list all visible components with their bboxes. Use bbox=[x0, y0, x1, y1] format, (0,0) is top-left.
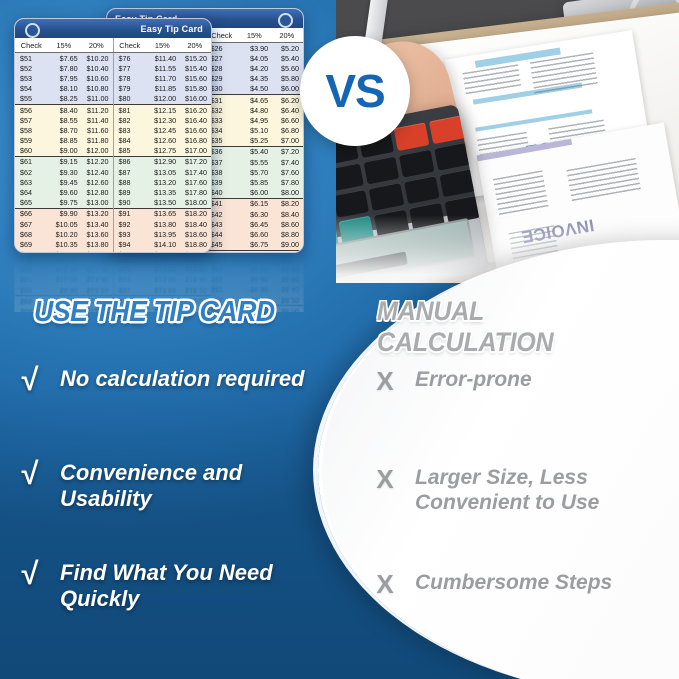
table-cell: $10.20 bbox=[82, 53, 113, 63]
table-cell: $5.40 bbox=[241, 147, 272, 157]
table-cell: $11.20 bbox=[82, 105, 113, 115]
table-cell: $85 bbox=[114, 146, 150, 156]
table-cell: $5.25 bbox=[241, 136, 272, 146]
table-row: $28$4.20$5.60 bbox=[206, 63, 304, 73]
table-cell: $6.60 bbox=[272, 115, 303, 125]
table-cell: $6.75 bbox=[241, 240, 272, 250]
table-cell: $12.60 bbox=[149, 136, 180, 146]
table-row: $34$5.10$6.80 bbox=[206, 126, 304, 136]
versus-label: VS bbox=[325, 64, 384, 118]
table-row: $38$5.70$7.60 bbox=[206, 167, 304, 177]
table-cell: $8.40 bbox=[51, 105, 82, 115]
table-band: $66$9.90$13.20$67$10.05$13.40$68$10.20$1… bbox=[15, 209, 113, 253]
table-cell: $14.10 bbox=[149, 239, 180, 249]
table-cell: $11.40 bbox=[82, 115, 113, 125]
table-cell: $10.05 bbox=[51, 219, 82, 229]
table-cell: $12.00 bbox=[82, 146, 113, 156]
table-cell: $66 bbox=[15, 209, 51, 219]
table-row: $93$13.95$18.60 bbox=[114, 229, 212, 239]
table-cell: $95 bbox=[114, 250, 150, 253]
table-cell: $11.40 bbox=[149, 53, 180, 63]
table-row: $58$8.70$11.60 bbox=[15, 125, 113, 135]
table-cell: $59 bbox=[15, 136, 51, 146]
table-cell: $4.95 bbox=[241, 115, 272, 125]
table-cell: $12.45 bbox=[149, 125, 180, 135]
table-cell: $18.20 bbox=[180, 209, 211, 219]
table-cell: $8.10 bbox=[51, 84, 82, 94]
table-row: $82$12.30$16.40 bbox=[114, 115, 212, 125]
tip-card-front: Easy Tip CardCheck15%20%Check15%20%$51$7… bbox=[14, 18, 212, 253]
table-row: $66$9.90$13.20 bbox=[15, 209, 113, 219]
table-cell: $78 bbox=[114, 73, 150, 83]
table-cell: $9.00 bbox=[272, 240, 303, 250]
table-row: $90$13.50$18.00 bbox=[114, 198, 212, 208]
table-cell: $5.20 bbox=[272, 43, 303, 53]
tip-card-group: Easy Tip CardCheck15%20%Check15%20%$1$0.… bbox=[14, 4, 304, 254]
con-column: MANUAL CALCULATION X Error-prone X Large… bbox=[355, 288, 675, 678]
column-header: Check bbox=[15, 38, 48, 52]
pro-item-3: √ Find What You Need Quickly bbox=[16, 560, 316, 612]
table-cell: $6.60 bbox=[241, 229, 272, 239]
table-cell: $80 bbox=[114, 94, 150, 104]
table-cell: $54 bbox=[15, 84, 51, 94]
table-row: $51$7.65$10.20 bbox=[15, 53, 113, 63]
table-row: $87$13.05$17.40 bbox=[114, 167, 212, 177]
table-cell: $77 bbox=[114, 63, 150, 73]
table-cell: $4.05 bbox=[241, 53, 272, 63]
table-cell: $56 bbox=[15, 105, 51, 115]
table-row: $68$10.20$13.60 bbox=[15, 229, 113, 239]
table-row: $61$9.15$12.20 bbox=[15, 157, 113, 167]
table-row: $65$9.75$13.00 bbox=[15, 198, 113, 208]
con-item-2-label: Larger Size, Less Convenient to Use bbox=[415, 466, 679, 516]
table-band: $51$7.65$10.20$52$7.80$10.40$53$7.95$10.… bbox=[15, 53, 113, 105]
pro-item-2-label: Convenience and Usability bbox=[60, 460, 316, 512]
table-cell: $6.15 bbox=[241, 199, 272, 209]
table-cell: $12.40 bbox=[82, 167, 113, 177]
table-row: $69$10.35$13.80 bbox=[15, 239, 113, 249]
table-cell: $60 bbox=[15, 146, 51, 156]
table-cell: $8.80 bbox=[272, 229, 303, 239]
table-row: $57$8.55$11.40 bbox=[15, 115, 113, 125]
table-cell: $5.55 bbox=[241, 157, 272, 167]
table-row: $32$4.80$6.40 bbox=[206, 105, 304, 115]
table-cell: $5.70 bbox=[241, 167, 272, 177]
table-cell: $82 bbox=[114, 115, 150, 125]
table-row: $84$12.60$16.80 bbox=[114, 136, 212, 146]
tip-card-table: $51$7.65$10.20$52$7.80$10.40$53$7.95$10.… bbox=[15, 53, 211, 253]
table-cell: $93 bbox=[114, 229, 150, 239]
table-cell: $69 bbox=[15, 239, 51, 249]
table-cell: $17.40 bbox=[180, 167, 211, 177]
pro-item-1-label: No calculation required bbox=[60, 366, 305, 392]
table-cell: $6.30 bbox=[241, 209, 272, 219]
table-cell: $9.00 bbox=[51, 146, 82, 156]
column-header: 20% bbox=[271, 28, 304, 42]
table-cell: $13.95 bbox=[149, 229, 180, 239]
table-cell: $13.20 bbox=[149, 177, 180, 187]
table-row: $77$11.55$15.40 bbox=[114, 63, 212, 73]
table-cell: $7.65 bbox=[51, 53, 82, 63]
table-row: $30$4.50$6.00 bbox=[206, 84, 304, 94]
table-cell: $9.60 bbox=[51, 187, 82, 197]
table-cell: $17.00 bbox=[180, 146, 211, 156]
table-cell: $14.00 bbox=[82, 250, 113, 253]
con-item-3: X Cumbersome Steps bbox=[375, 571, 679, 597]
table-cell: $8.60 bbox=[272, 219, 303, 229]
table-cell: $9.45 bbox=[51, 177, 82, 187]
table-row: $55$8.25$11.00 bbox=[15, 94, 113, 104]
table-cell: $16.80 bbox=[180, 136, 211, 146]
table-row: $42$6.30$8.40 bbox=[206, 209, 304, 219]
table-cell: $10.50 bbox=[51, 250, 82, 253]
table-row: $52$7.80$10.40 bbox=[15, 63, 113, 73]
table-row: $88$13.20$17.60 bbox=[114, 177, 212, 187]
table-row: $70$10.50$14.00 bbox=[15, 250, 113, 253]
column-header: 15% bbox=[238, 28, 271, 42]
check-icon: √ bbox=[16, 366, 44, 394]
table-cell: $7.40 bbox=[272, 157, 303, 167]
table-row: $41$6.15$8.20 bbox=[206, 199, 304, 209]
table-cell: $5.80 bbox=[272, 74, 303, 84]
table-cell: $9.90 bbox=[51, 209, 82, 219]
table-cell: $5.60 bbox=[272, 63, 303, 73]
table-cell: $16.20 bbox=[180, 105, 211, 115]
table-band: $41$6.15$8.20$42$6.30$8.40$43$6.45$8.60$… bbox=[206, 199, 304, 251]
table-cell: $5.40 bbox=[272, 53, 303, 63]
table-cell: $8.00 bbox=[272, 188, 303, 198]
table-cell: $4.80 bbox=[241, 105, 272, 115]
table-cell: $89 bbox=[114, 187, 150, 197]
table-row: $78$11.70$15.60 bbox=[114, 73, 212, 83]
table-cell: $70 bbox=[15, 250, 51, 253]
table-row: $35$5.25$7.00 bbox=[206, 136, 304, 146]
table-row: $56$8.40$11.20 bbox=[15, 105, 113, 115]
invoice-label-2: INVOICE bbox=[520, 214, 596, 246]
table-cell: $8.55 bbox=[51, 115, 82, 125]
table-cell: $6.80 bbox=[272, 126, 303, 136]
table-band: $61$9.15$12.20$62$9.30$12.40$63$9.45$12.… bbox=[15, 157, 113, 209]
table-row: $92$13.80$18.40 bbox=[114, 219, 212, 229]
table-cell: $18.40 bbox=[180, 219, 211, 229]
column-header: 20% bbox=[179, 38, 212, 52]
table-band: $91$13.65$18.20$92$13.80$18.40$93$13.95$… bbox=[114, 209, 212, 253]
table-band: $86$12.90$17.20$87$13.05$17.40$88$13.20$… bbox=[114, 157, 212, 209]
table-cell: $52 bbox=[15, 63, 51, 73]
table-cell: $16.60 bbox=[180, 125, 211, 135]
table-cell: $12.30 bbox=[149, 115, 180, 125]
table-cell: $63 bbox=[15, 177, 51, 187]
table-cell: $7.60 bbox=[272, 167, 303, 177]
table-row: $81$12.15$16.20 bbox=[114, 105, 212, 115]
table-cell: $61 bbox=[15, 157, 51, 167]
table-cell: $11.70 bbox=[149, 73, 180, 83]
pro-item-3-label: Find What You Need Quickly bbox=[60, 560, 316, 612]
table-cell: $57 bbox=[15, 115, 51, 125]
table-row: $95$14.25$19.00 bbox=[114, 250, 212, 253]
table-cell: $18.60 bbox=[180, 229, 211, 239]
table-cell: $12.15 bbox=[149, 105, 180, 115]
table-band: $36$5.40$7.20$37$5.55$7.40$38$5.70$7.60$… bbox=[206, 147, 304, 199]
table-row: $53$7.95$10.60 bbox=[15, 73, 113, 83]
table-cell: $10.20 bbox=[51, 229, 82, 239]
tip-card-title: Easy Tip Card bbox=[141, 24, 203, 34]
table-cell: $91 bbox=[114, 209, 150, 219]
table-row: $46$6.90$9.20 bbox=[206, 251, 304, 253]
pro-item-2: √ Convenience and Usability bbox=[16, 460, 316, 512]
table-band: $81$12.15$16.20$82$12.30$16.40$83$12.45$… bbox=[114, 105, 212, 157]
pro-title: USE THE TIP CARD bbox=[34, 296, 275, 329]
table-cell: $10.60 bbox=[82, 73, 113, 83]
table-cell: $84 bbox=[114, 136, 150, 146]
table-row: $36$5.40$7.20 bbox=[206, 147, 304, 157]
cross-icon: X bbox=[375, 466, 395, 492]
table-row: $43$6.45$8.60 bbox=[206, 219, 304, 229]
con-item-2: X Larger Size, Less Convenient to Use bbox=[375, 466, 679, 516]
table-cell: $11.00 bbox=[82, 94, 113, 104]
table-row: $83$12.45$16.60 bbox=[114, 125, 212, 135]
table-cell: $9.20 bbox=[272, 251, 303, 253]
table-cell: $7.95 bbox=[51, 73, 82, 83]
column-header: 15% bbox=[146, 38, 179, 52]
table-cell: $86 bbox=[114, 157, 150, 167]
table-row: $86$12.90$17.20 bbox=[114, 157, 212, 167]
table-cell: $8.40 bbox=[272, 209, 303, 219]
table-row: $44$6.60$8.80 bbox=[206, 229, 304, 239]
table-cell: $13.20 bbox=[82, 209, 113, 219]
versus-badge: VS bbox=[300, 36, 410, 146]
pro-column: USE THE TIP CARD √ No calculation requir… bbox=[0, 288, 320, 678]
table-cell: $17.80 bbox=[180, 187, 211, 197]
table-cell: $10.80 bbox=[82, 84, 113, 94]
table-cell: $15.80 bbox=[180, 84, 211, 94]
table-cell: $11.85 bbox=[149, 84, 180, 94]
table-cell: $7.80 bbox=[51, 63, 82, 73]
table-row: $79$11.85$15.80 bbox=[114, 84, 212, 94]
table-row: $40$6.00$8.00 bbox=[206, 188, 304, 198]
table-cell: $16.40 bbox=[180, 115, 211, 125]
table-row: $59$8.85$11.80 bbox=[15, 136, 113, 146]
table-cell: $58 bbox=[15, 125, 51, 135]
table-cell: $11.80 bbox=[82, 136, 113, 146]
table-cell: $17.60 bbox=[180, 177, 211, 187]
table-cell: $7.80 bbox=[272, 177, 303, 187]
table-cell: $6.40 bbox=[272, 105, 303, 115]
cross-icon: X bbox=[375, 571, 395, 597]
cross-icon: X bbox=[375, 368, 395, 394]
table-cell: $83 bbox=[114, 125, 150, 135]
table-cell: $13.60 bbox=[82, 229, 113, 239]
column-header: 20% bbox=[80, 38, 113, 52]
table-cell: $6.00 bbox=[272, 84, 303, 94]
table-row: $54$8.10$10.80 bbox=[15, 84, 113, 94]
table-cell: $88 bbox=[114, 177, 150, 187]
table-cell: $13.65 bbox=[149, 209, 180, 219]
table-cell: $12.90 bbox=[149, 157, 180, 167]
table-cell: $12.00 bbox=[149, 94, 180, 104]
ring-hole-icon bbox=[25, 23, 40, 38]
table-cell: $7.00 bbox=[272, 136, 303, 146]
table-row: $76$11.40$15.20 bbox=[114, 53, 212, 63]
con-title: MANUAL CALCULATION bbox=[377, 296, 654, 358]
table-row: $31$4.65$6.20 bbox=[206, 95, 304, 105]
table-cell: $18.80 bbox=[180, 239, 211, 249]
table-row: $63$9.45$12.60 bbox=[15, 177, 113, 187]
table-row: $94$14.10$18.80 bbox=[114, 239, 212, 249]
ring-hole-icon bbox=[278, 13, 293, 28]
table-cell: $46 bbox=[206, 251, 242, 253]
table-cell: $11.60 bbox=[82, 125, 113, 135]
column-header: Check bbox=[114, 38, 147, 52]
table-row: $85$12.75$17.00 bbox=[114, 146, 212, 156]
table-row: $62$9.30$12.40 bbox=[15, 167, 113, 177]
table-band: $31$4.65$6.20$32$4.80$6.40$33$4.95$6.60$… bbox=[206, 95, 304, 147]
table-cell: $15.40 bbox=[180, 63, 211, 73]
table-cell: $11.55 bbox=[149, 63, 180, 73]
table-band: $76$11.40$15.20$77$11.55$15.40$78$11.70$… bbox=[114, 53, 212, 105]
table-cell: $51 bbox=[15, 53, 51, 63]
check-icon: √ bbox=[16, 460, 44, 488]
table-row: $37$5.55$7.40 bbox=[206, 157, 304, 167]
table-cell: $6.45 bbox=[241, 219, 272, 229]
table-cell: $13.00 bbox=[82, 198, 113, 208]
table-cell: $15.20 bbox=[180, 53, 211, 63]
table-row: $45$6.75$9.00 bbox=[206, 240, 304, 250]
table-row: $27$4.05$5.40 bbox=[206, 53, 304, 63]
tip-card-header: Easy Tip Card bbox=[15, 19, 211, 38]
table-cell: $8.25 bbox=[51, 94, 82, 104]
table-cell: $8.85 bbox=[51, 136, 82, 146]
table-cell: $12.60 bbox=[82, 177, 113, 187]
table-cell: $90 bbox=[114, 198, 150, 208]
table-cell: $6.90 bbox=[241, 251, 272, 253]
table-row: $29$4.35$5.80 bbox=[206, 74, 304, 84]
table-cell: $12.80 bbox=[82, 187, 113, 197]
table-cell: $3.90 bbox=[241, 43, 272, 53]
tip-card-column-headers: Check15%20%Check15%20% bbox=[15, 38, 211, 53]
table-cell: $5.85 bbox=[241, 177, 272, 187]
table-row: $91$13.65$18.20 bbox=[114, 209, 212, 219]
table-cell: $94 bbox=[114, 239, 150, 249]
table-cell: $67 bbox=[15, 219, 51, 229]
con-item-1-label: Error-prone bbox=[415, 368, 532, 393]
table-cell: $6.00 bbox=[241, 188, 272, 198]
table-cell: $18.00 bbox=[180, 198, 211, 208]
table-cell: $68 bbox=[15, 229, 51, 239]
table-cell: $12.75 bbox=[149, 146, 180, 156]
table-band: $46$6.90$9.20$47$7.05$9.40$48$7.20$9.60$… bbox=[206, 251, 304, 253]
table-cell: $16.00 bbox=[180, 94, 211, 104]
table-cell: $7.20 bbox=[272, 147, 303, 157]
table-band: $26$3.90$5.20$27$4.05$5.40$28$4.20$5.60$… bbox=[206, 43, 304, 95]
table-row: $64$9.60$12.80 bbox=[15, 187, 113, 197]
table-cell: $10.35 bbox=[51, 239, 82, 249]
table-cell: $64 bbox=[15, 187, 51, 197]
table-cell: $8.70 bbox=[51, 125, 82, 135]
table-cell: $13.80 bbox=[82, 239, 113, 249]
table-cell: $76 bbox=[114, 53, 150, 63]
table-row: $39$5.85$7.80 bbox=[206, 177, 304, 187]
table-cell: $55 bbox=[15, 94, 51, 104]
table-cell: $6.20 bbox=[272, 95, 303, 105]
table-cell: $15.60 bbox=[180, 73, 211, 83]
table-row: $89$13.35$17.80 bbox=[114, 187, 212, 197]
table-cell: $4.20 bbox=[241, 63, 272, 73]
table-cell: $92 bbox=[114, 219, 150, 229]
table-cell: $13.40 bbox=[82, 219, 113, 229]
table-cell: $87 bbox=[114, 167, 150, 177]
table-cell: $4.50 bbox=[241, 84, 272, 94]
table-cell: $5.10 bbox=[241, 126, 272, 136]
table-row: $33$4.95$6.60 bbox=[206, 115, 304, 125]
table-cell: $14.25 bbox=[149, 250, 180, 253]
table-cell: $8.20 bbox=[272, 199, 303, 209]
pro-item-1: √ No calculation required bbox=[16, 366, 316, 394]
table-cell: $9.30 bbox=[51, 167, 82, 177]
table-cell: $13.50 bbox=[149, 198, 180, 208]
table-cell: $13.80 bbox=[149, 219, 180, 229]
table-cell: $65 bbox=[15, 198, 51, 208]
table-cell: $53 bbox=[15, 73, 51, 83]
table-cell: $4.65 bbox=[241, 95, 272, 105]
column-header: 15% bbox=[48, 38, 81, 52]
comparison-infographic: INVOICE INVOICE bbox=[0, 0, 679, 679]
table-row: $67$10.05$13.40 bbox=[15, 219, 113, 229]
table-cell: $81 bbox=[114, 105, 150, 115]
table-row: $80$12.00$16.00 bbox=[114, 94, 212, 104]
table-cell: $9.75 bbox=[51, 198, 82, 208]
table-band: $56$8.40$11.20$57$8.55$11.40$58$8.70$11.… bbox=[15, 105, 113, 157]
table-cell: $17.20 bbox=[180, 157, 211, 167]
table-cell: $10.40 bbox=[82, 63, 113, 73]
table-row: $60$9.00$12.00 bbox=[15, 146, 113, 156]
table-cell: $79 bbox=[114, 84, 150, 94]
table-cell: $12.20 bbox=[82, 157, 113, 167]
con-item-1: X Error-prone bbox=[375, 368, 679, 394]
table-cell: $4.35 bbox=[241, 74, 272, 84]
table-cell: $62 bbox=[15, 167, 51, 177]
check-icon: √ bbox=[16, 560, 44, 588]
con-item-3-label: Cumbersome Steps bbox=[415, 571, 612, 596]
table-row: $26$3.90$5.20 bbox=[206, 43, 304, 53]
table-cell: $9.15 bbox=[51, 157, 82, 167]
table-cell: $13.05 bbox=[149, 167, 180, 177]
table-cell: $13.35 bbox=[149, 187, 180, 197]
